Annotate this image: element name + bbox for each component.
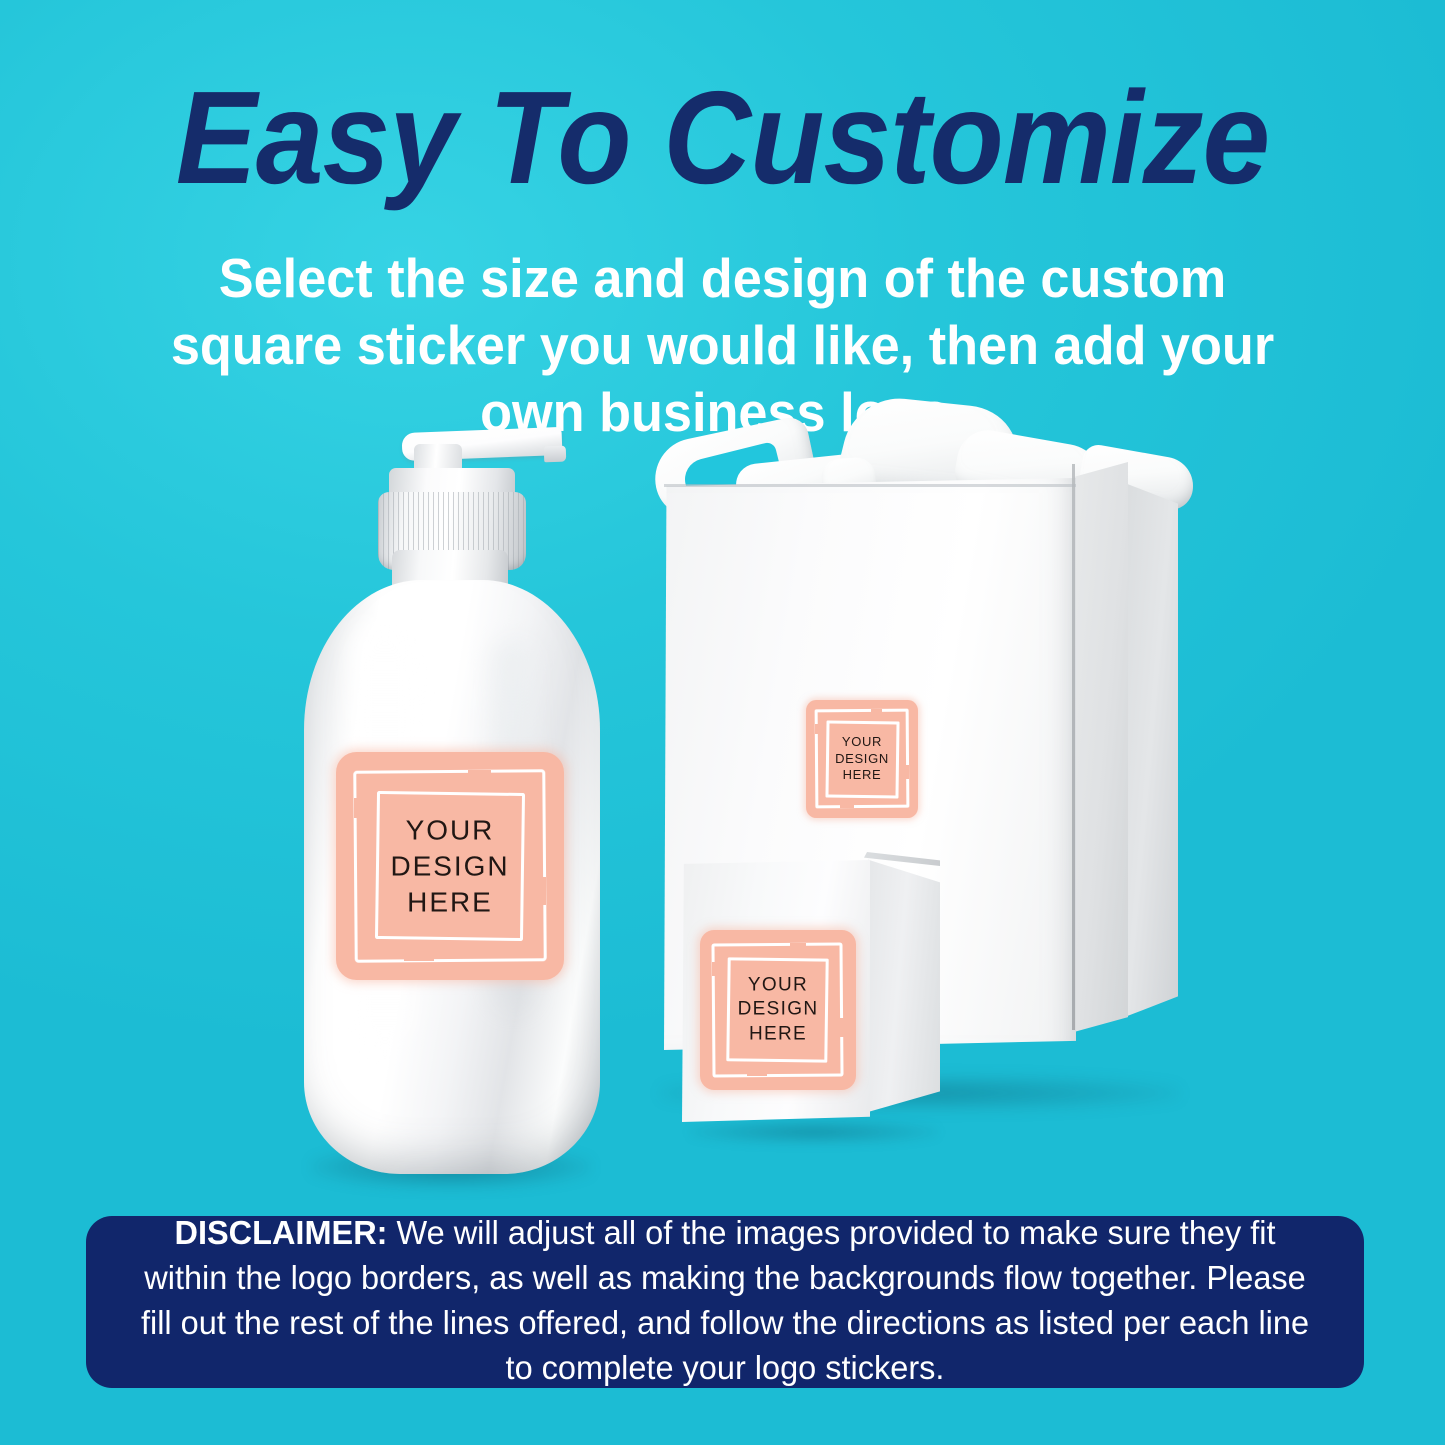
sticker-on-bottle: YOUR DESIGN HERE — [336, 752, 564, 980]
small-box: YOUR DESIGN HERE — [678, 848, 948, 1138]
small-box-side-panel — [868, 854, 940, 1112]
sticker-text-line-2: DESIGN — [336, 848, 564, 884]
gift-box-lid-line — [664, 484, 1076, 487]
sticker-on-small-box: YOUR DESIGN HERE — [700, 930, 856, 1090]
sticker-text: YOUR DESIGN HERE — [806, 734, 918, 784]
disclaimer-text: DISCLAIMER: We will adjust all of the im… — [138, 1212, 1312, 1392]
promo-canvas: Easy To Customize Select the size and de… — [0, 0, 1445, 1445]
sticker-text: YOUR DESIGN HERE — [700, 974, 856, 1047]
sticker-text-line-3: HERE — [806, 767, 918, 784]
pump-nozzle-tip — [544, 446, 567, 463]
sticker-text-line-1: YOUR — [806, 734, 918, 751]
pump-bottle: YOUR DESIGN HERE — [296, 430, 606, 1175]
small-box-shadow — [690, 1120, 938, 1144]
sticker-text-line-1: YOUR — [700, 974, 856, 998]
page-title: Easy To Customize — [58, 72, 1387, 204]
sticker-text-line-3: HERE — [700, 1022, 856, 1046]
gift-box-lid-edge — [1074, 462, 1128, 1032]
brush-gap-bottom — [840, 804, 855, 808]
sticker-text-line-2: DESIGN — [700, 998, 856, 1022]
brush-gap-left — [815, 724, 819, 735]
sticker-text-line-1: YOUR — [336, 812, 564, 848]
disclaimer-banner: DISCLAIMER: We will adjust all of the im… — [86, 1216, 1364, 1388]
brush-gap-top — [790, 943, 806, 947]
brush-gap-bottom — [404, 954, 434, 961]
gift-box-side-panel — [1126, 470, 1178, 1030]
sticker-text: YOUR DESIGN HERE — [336, 812, 564, 919]
brush-gap-bottom — [747, 1072, 767, 1077]
brush-gap-top — [871, 709, 882, 712]
sticker-text-line-2: DESIGN — [806, 751, 918, 768]
brush-gap-top — [468, 770, 491, 776]
gift-box-seam — [1072, 464, 1075, 1030]
disclaimer-label: DISCLAIMER: — [174, 1215, 387, 1252]
sticker-text-line-3: HERE — [336, 884, 564, 920]
sticker-on-gift-box: YOUR DESIGN HERE — [806, 700, 918, 818]
